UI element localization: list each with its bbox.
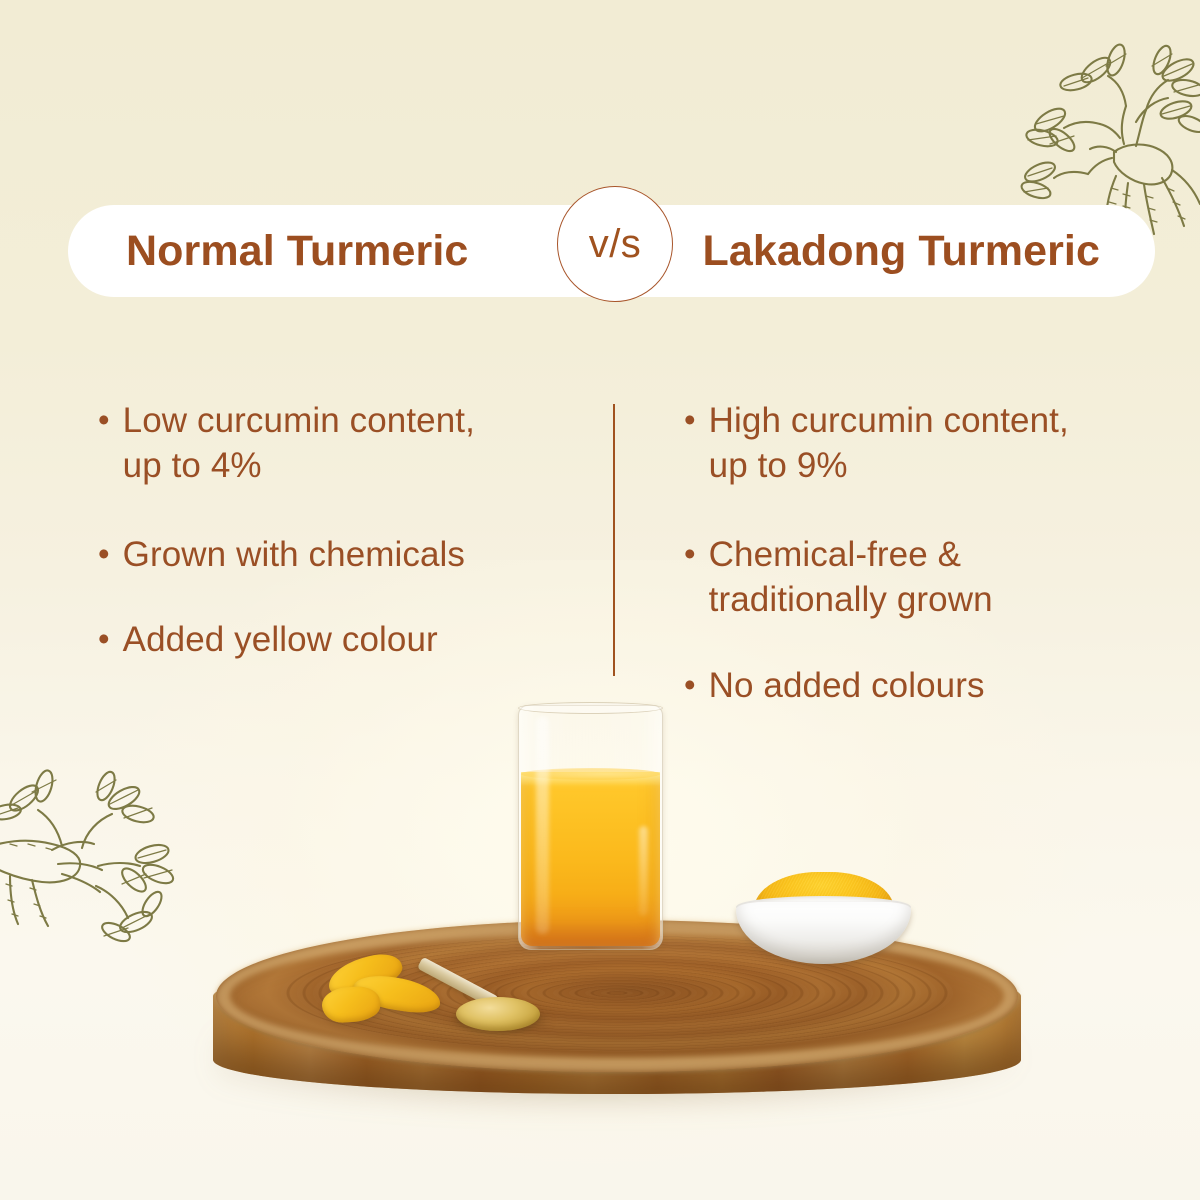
glass-highlight [536,716,549,934]
spoon-bowl [456,997,540,1031]
column-divider [613,404,615,676]
bullet-dot-icon: • [98,532,110,576]
glass-of-turmeric-drink [518,705,663,950]
left-bullet-column: • Low curcumin content, up to 4% • Grown… [98,398,598,663]
bullet-dot-icon: • [98,617,110,661]
bowl-body [736,902,911,964]
golden-spoon-icon [420,950,540,1030]
bowl-of-turmeric-powder [736,872,911,962]
glass-body [518,705,663,950]
bullet-dot-icon: • [684,532,696,576]
product-photo [0,660,1200,1200]
versus-badge: v/s [557,186,673,302]
glass-highlight [639,826,648,916]
left-column-title: Normal Turmeric [126,230,468,273]
bullet-dot-icon: • [684,398,696,442]
list-item-text: Low curcumin content, up to 4% [123,398,598,488]
list-item-text: High curcumin content, up to 9% [709,398,1154,488]
bullet-dot-icon: • [98,398,110,442]
glass-rim [518,702,663,714]
list-item-text: Grown with chemicals [123,532,598,577]
list-item-text: Chemical-free & traditionally grown [709,532,1154,622]
list-item: • Grown with chemicals [98,532,598,577]
comparison-infographic: Normal Turmeric Lakadong Turmeric v/s • … [0,0,1200,1200]
list-item-text: Added yellow colour [123,617,598,662]
versus-label: v/s [589,224,642,264]
list-item: • High curcumin content, up to 9% [684,398,1154,488]
list-item: • Low curcumin content, up to 4% [98,398,598,488]
list-item: • Chemical-free & traditionally grown [684,532,1154,622]
list-item: • Added yellow colour [98,617,598,662]
right-column-title: Lakadong Turmeric [702,230,1100,273]
